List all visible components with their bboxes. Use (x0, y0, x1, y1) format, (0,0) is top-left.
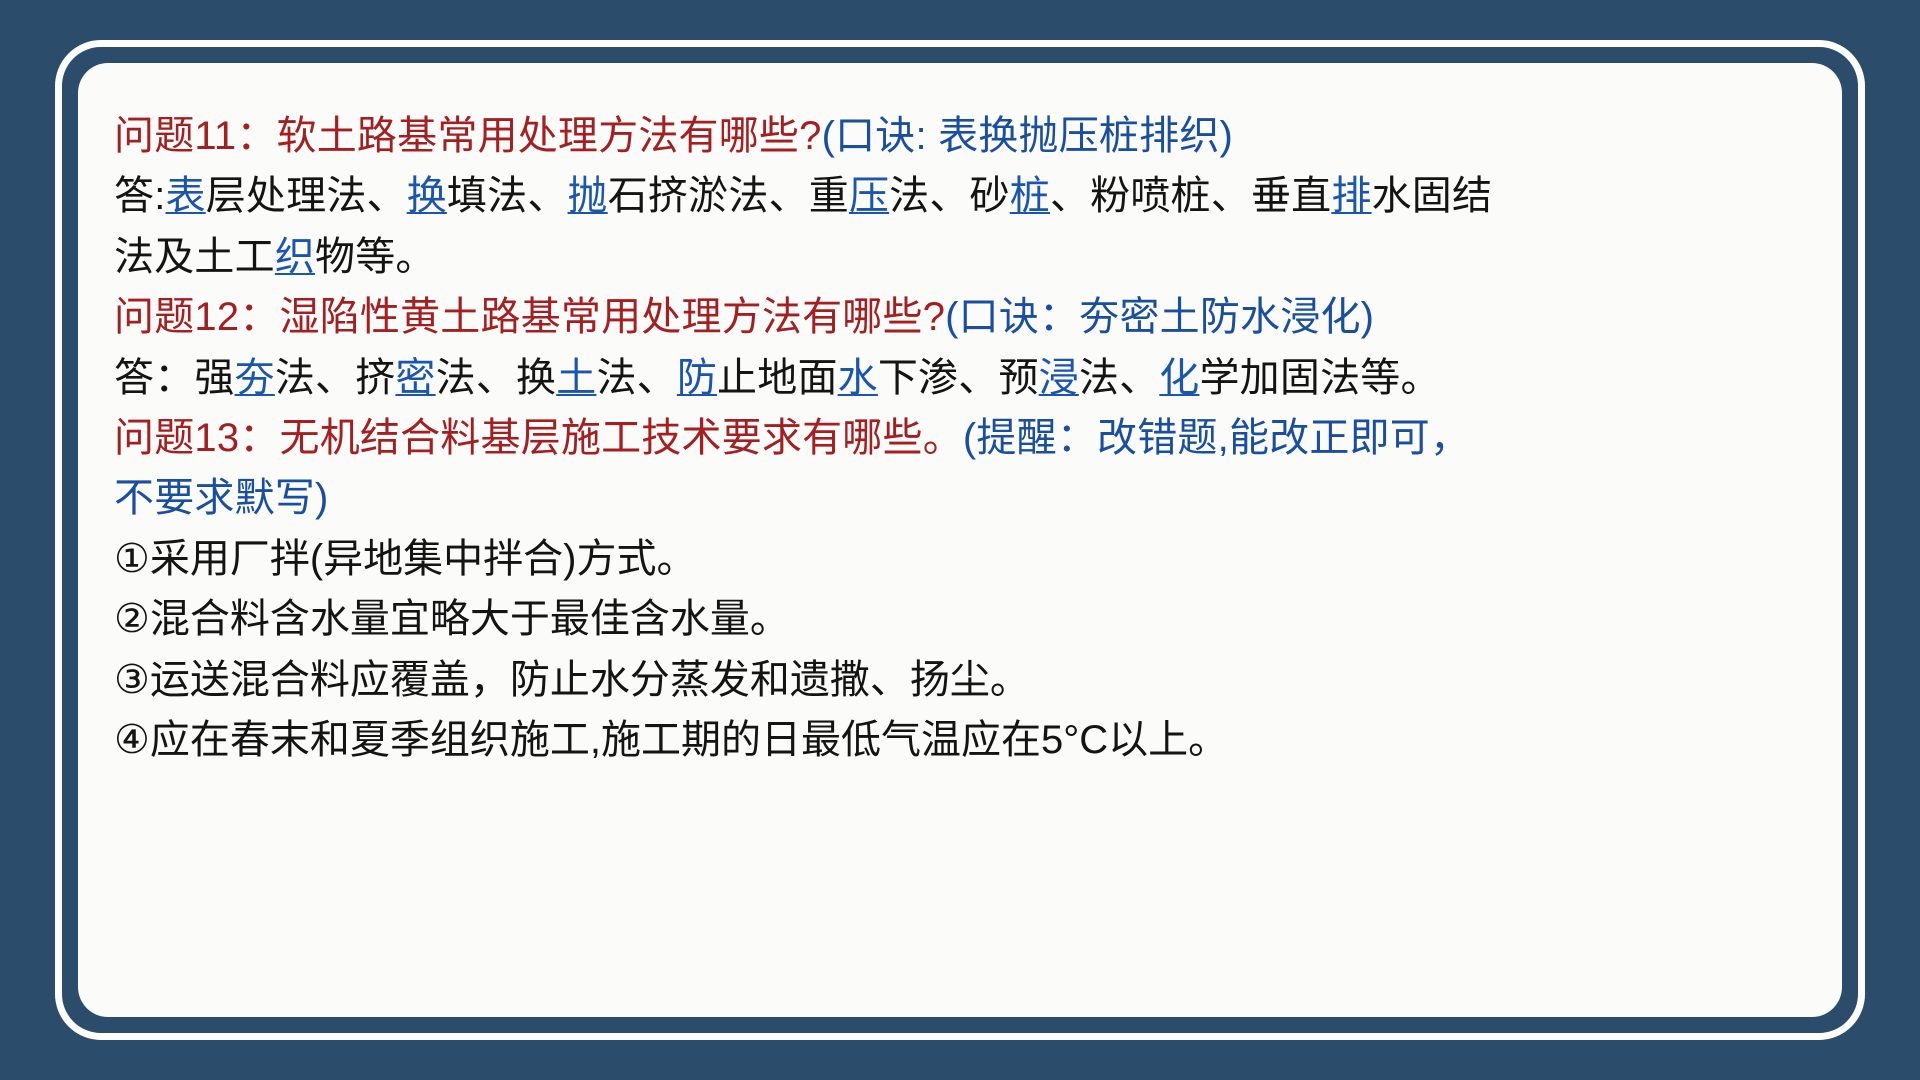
answer-text: 下渗、预 (878, 356, 1039, 400)
question-11-heading: 问题11：软土路基常用处理方法有哪些?(口诀: 表换抛压桩排织) (114, 107, 1806, 165)
question-13-note-line-2: 不要求默写) (114, 476, 329, 520)
list-item: ①采用厂拌(异地集中拌合)方式。 (114, 530, 1806, 588)
keyword-pai: 排 (1331, 174, 1371, 218)
answer-text: 填法、 (447, 174, 568, 218)
keyword-mi: 密 (395, 356, 435, 400)
question-11-mnemonic: (口诀: 表换抛压桩排织) (822, 114, 1233, 158)
list-item: ③运送混合料应覆盖，防止水分蒸发和遗撒、扬尘。 (114, 651, 1806, 709)
question-13-note-line-2-row: 不要求默写) (114, 469, 1806, 527)
answer-prefix: 答: (114, 174, 166, 218)
keyword-zhi: 织 (275, 235, 315, 279)
answer-text: 法、砂 (889, 174, 1010, 218)
answer-text: 法、 (1079, 356, 1159, 400)
question-12-heading: 问题12：湿陷性黄土路基常用处理方法有哪些?(口诀：夯密土防水浸化) (114, 288, 1806, 346)
keyword-zhuang: 桩 (1010, 174, 1050, 218)
question-11-answer-line-1: 答:表层处理法、换填法、抛石挤淤法、重压法、砂桩、粉喷桩、垂直排水固结 (114, 167, 1806, 225)
question-11-answer-line-2: 法及土工织物等。 (114, 228, 1806, 286)
list-item: ④应在春末和夏季组织施工,施工期的日最低气温应在5°C以上。 (114, 711, 1806, 769)
keyword-hua: 化 (1159, 356, 1199, 400)
answer-text: 层处理法、 (206, 174, 407, 218)
answer-text: 法、换 (436, 356, 557, 400)
keyword-biao: 表 (166, 174, 206, 218)
content-card: 问题11：软土路基常用处理方法有哪些?(口诀: 表换抛压桩排织) 答:表层处理法… (78, 63, 1842, 1017)
question-11-heading-text: 问题11：软土路基常用处理方法有哪些? (114, 114, 822, 158)
answer-prefix: 答：强 (114, 356, 235, 400)
answer-text: 法、挤 (275, 356, 396, 400)
keyword-shui: 水 (838, 356, 878, 400)
answer-text: 水固结 (1372, 174, 1493, 218)
answer-text: 法、 (596, 356, 676, 400)
answer-text: 石挤淤法、重 (608, 174, 849, 218)
keyword-fang: 防 (677, 356, 717, 400)
answer-text: 学加固法等。 (1199, 356, 1440, 400)
answer-text: 法及土工 (114, 235, 275, 279)
question-13-heading: 问题13：无机结合料基层施工技术要求有哪些。(提醒：改错题,能改正即可， (114, 409, 1806, 467)
keyword-pao: 抛 (568, 174, 608, 218)
keyword-tu: 土 (556, 356, 596, 400)
answer-text: 、粉喷桩、垂直 (1050, 174, 1331, 218)
question-12-mnemonic: (口诀：夯密土防水浸化) (945, 295, 1374, 339)
keyword-ya: 压 (849, 174, 889, 218)
answer-text: 止地面 (717, 356, 838, 400)
question-12-answer-line-1: 答：强夯法、挤密法、换土法、防止地面水下渗、预浸法、化学加固法等。 (114, 349, 1806, 407)
question-12-heading-text: 问题12：湿陷性黄土路基常用处理方法有哪些? (114, 295, 945, 339)
question-13-heading-text: 问题13：无机结合料基层施工技术要求有哪些。 (114, 416, 963, 460)
slide-root: 问题11：软土路基常用处理方法有哪些?(口诀: 表换抛压桩排织) 答:表层处理法… (0, 0, 1920, 1080)
keyword-huan: 换 (407, 174, 447, 218)
keyword-hang: 夯 (235, 356, 275, 400)
answer-text: 物等。 (315, 235, 436, 279)
list-item: ②混合料含水量宜略大于最佳含水量。 (114, 590, 1806, 648)
keyword-jin: 浸 (1039, 356, 1079, 400)
question-13-note-line-1: (提醒：改错题,能改正即可， (963, 416, 1470, 460)
